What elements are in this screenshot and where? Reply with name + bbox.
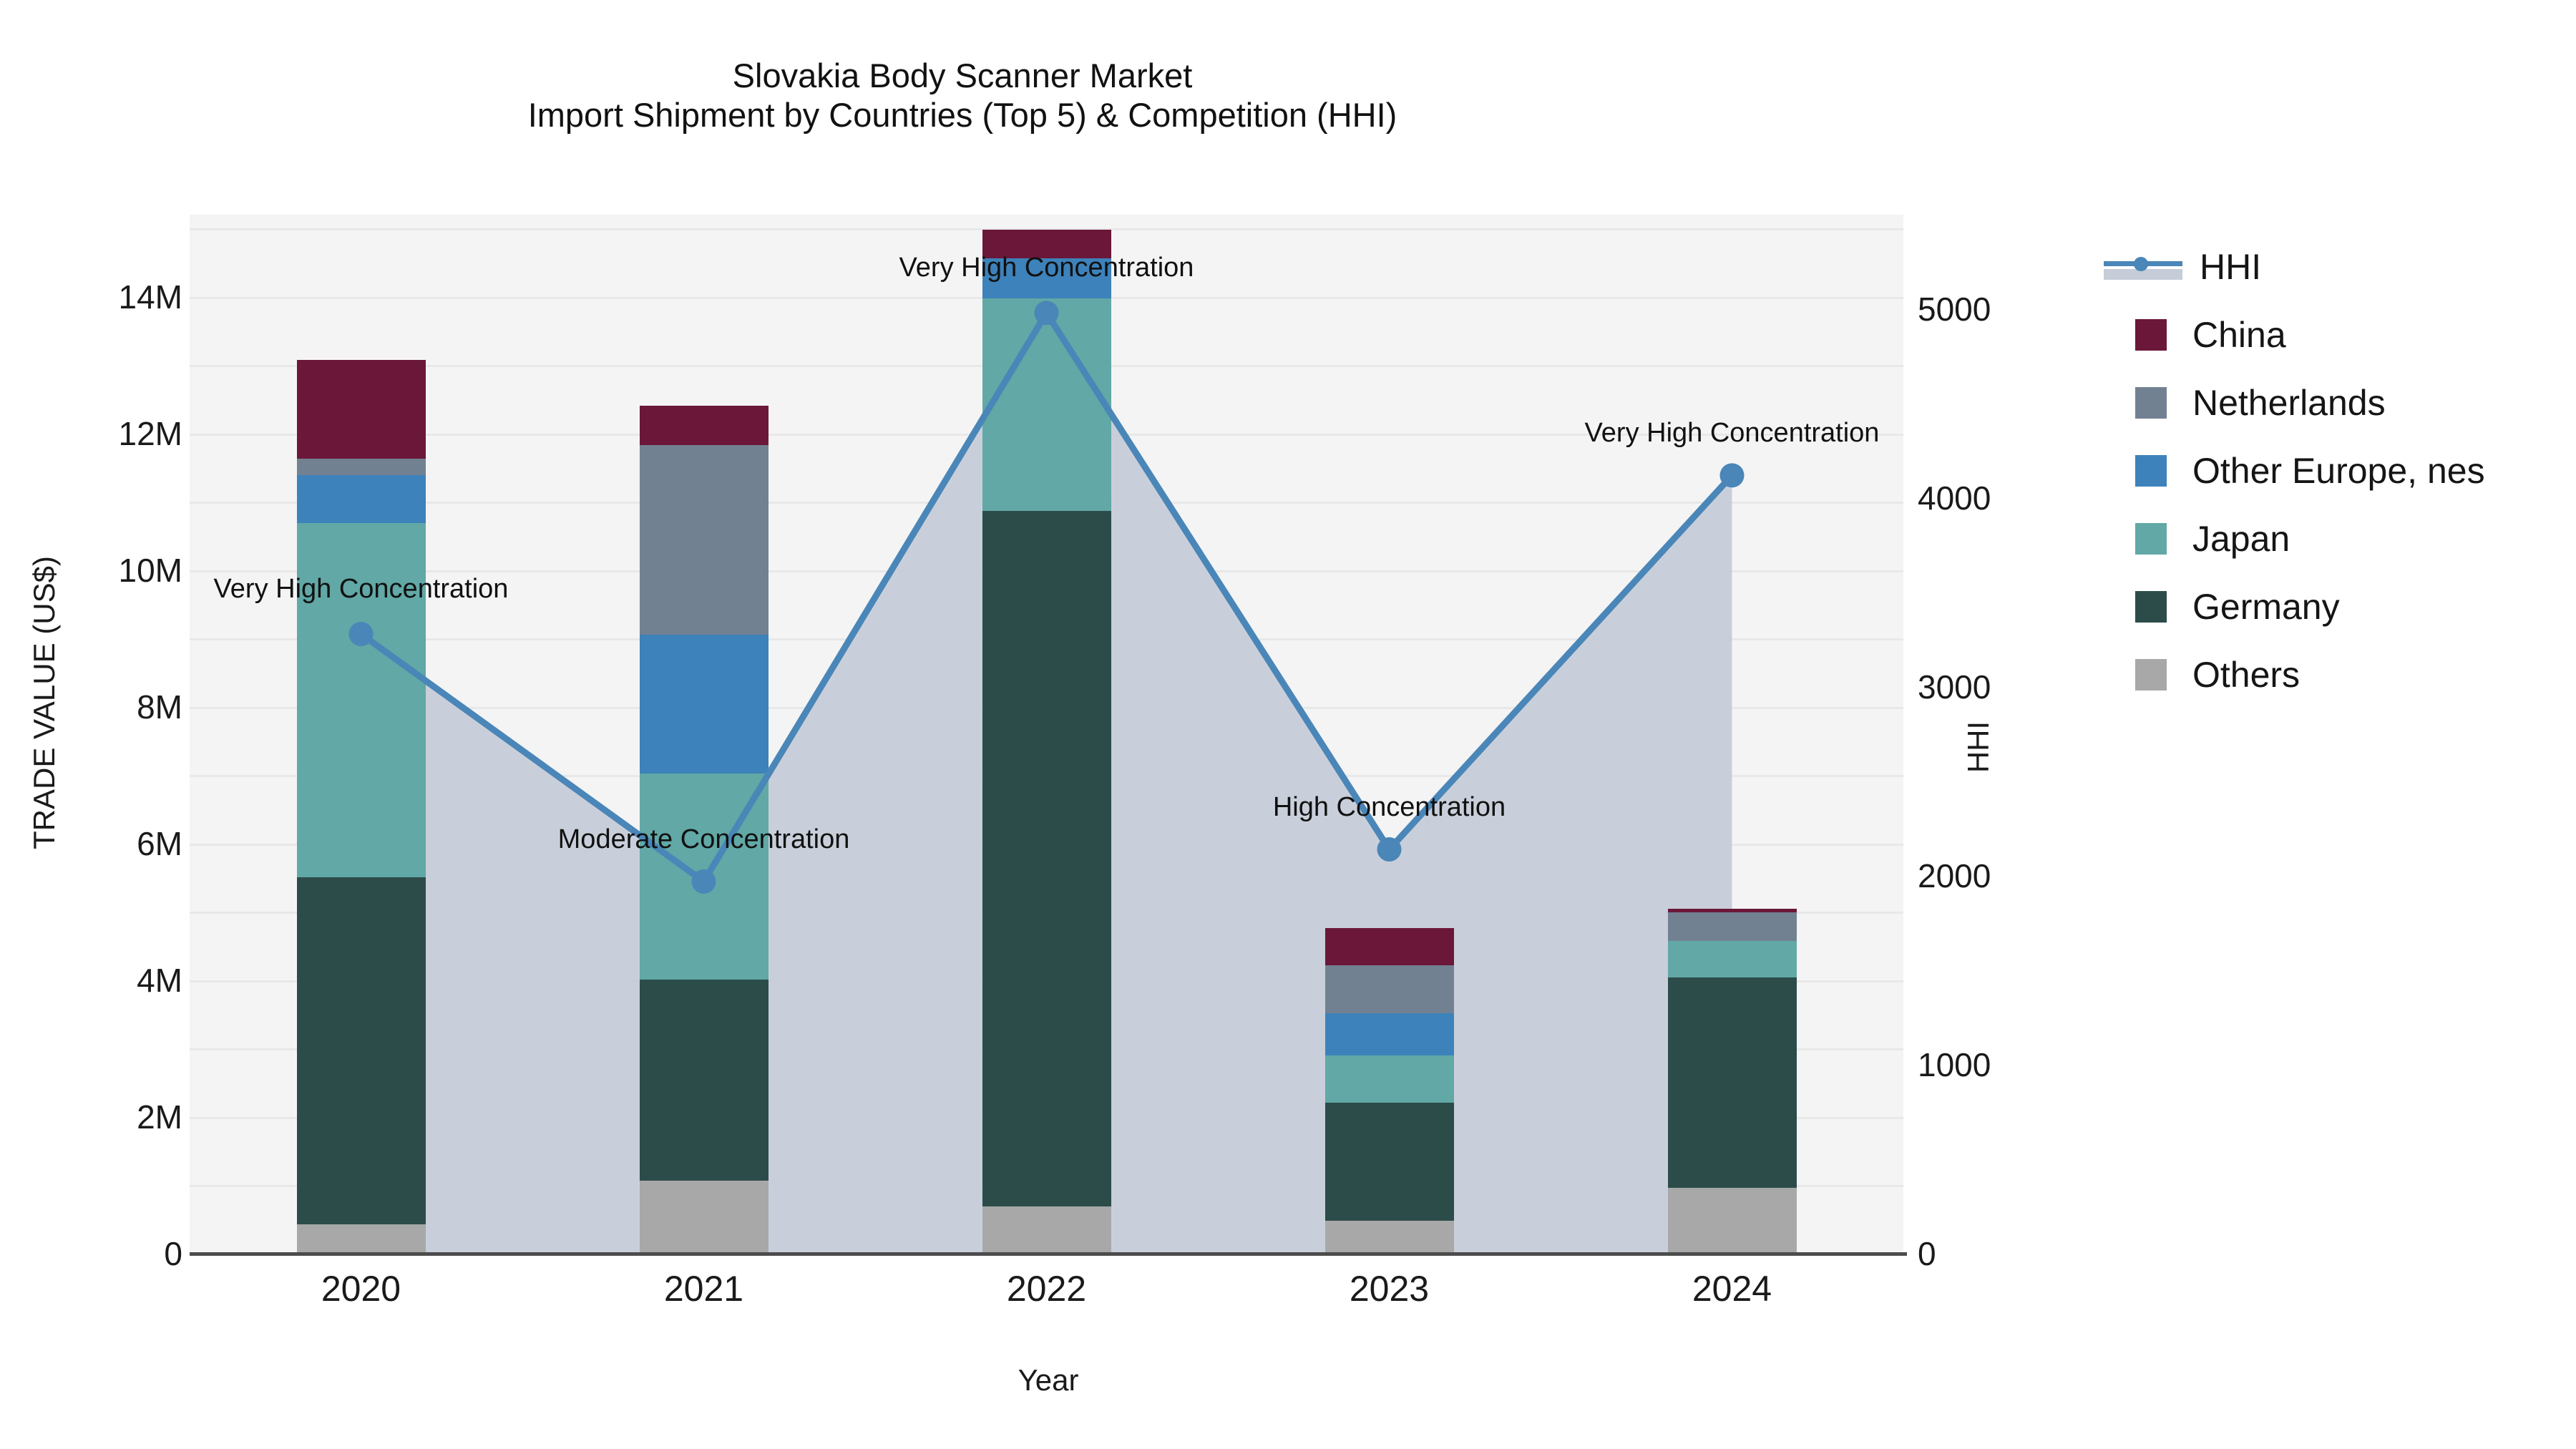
x-axis-title: Year [905, 1363, 1191, 1397]
x-axis-tick-label: 2021 [561, 1268, 847, 1309]
y-axis-right-tick-label: 5000 [1918, 290, 1991, 328]
y-axis-right-tick-label: 4000 [1918, 479, 1991, 517]
legend-color-swatch [2135, 523, 2167, 555]
hhi-line-icon [2104, 251, 2182, 283]
legend-label: Netherlands [2192, 382, 2386, 424]
y-axis-left-title: TRADE VALUE (US$) [27, 452, 62, 953]
legend-color-swatch [2135, 591, 2167, 623]
plot-area [190, 215, 1903, 1254]
hhi-marker [1035, 301, 1059, 325]
concentration-annotation: Very High Concentration [214, 574, 509, 605]
y-axis-right-tick-label: 1000 [1918, 1045, 1991, 1084]
hhi-marker [1377, 837, 1402, 862]
y-axis-left-tick-label: 12M [4, 414, 182, 453]
legend-color-swatch [2135, 387, 2167, 419]
x-axis-tick-label: 2023 [1246, 1268, 1533, 1309]
hhi-marker [692, 869, 716, 894]
legend-color-swatch [2135, 659, 2167, 691]
legend-label: Germany [2192, 586, 2340, 628]
hhi-line [361, 313, 1732, 882]
legend-item[interactable]: Germany [2104, 572, 2485, 640]
legend-item[interactable]: Netherlands [2104, 369, 2485, 436]
page-title: Slovakia Body Scanner Market Import Ship… [0, 56, 1925, 135]
concentration-annotation: Very High Concentration [899, 253, 1194, 283]
hhi-marker [349, 622, 374, 646]
legend-label: Other Europe, nes [2192, 450, 2485, 492]
legend-item[interactable]: Other Europe, nes [2104, 436, 2485, 504]
hhi-line-overlay [190, 215, 1903, 1254]
legend-label-hhi: HHI [2200, 246, 2261, 288]
hhi-marker [1720, 463, 1745, 487]
y-axis-right-title: HHI [1961, 604, 1996, 890]
concentration-annotation: High Concentration [1273, 792, 1506, 823]
legend-color-swatch [2135, 455, 2167, 487]
concentration-annotation: Moderate Concentration [558, 824, 850, 855]
legend-label: Japan [2192, 518, 2290, 560]
concentration-annotation: Very High Concentration [1585, 418, 1880, 449]
legend-item[interactable]: Japan [2104, 504, 2485, 572]
legend: HHI ChinaNetherlandsOther Europe, nesJap… [2104, 233, 2485, 708]
x-axis-tick-label: 2022 [904, 1268, 1190, 1309]
legend-item[interactable]: Others [2104, 640, 2485, 708]
legend-label: Others [2192, 654, 2300, 696]
y-axis-left-tick-label: 4M [4, 961, 182, 1000]
y-axis-right-tick-label: 0 [1918, 1234, 1936, 1273]
legend-color-swatch [2135, 319, 2167, 351]
legend-item[interactable]: China [2104, 301, 2485, 369]
x-axis-tick-label: 2024 [1589, 1268, 1875, 1309]
legend-item-hhi[interactable]: HHI [2104, 233, 2485, 301]
x-axis-tick-label: 2020 [218, 1268, 504, 1309]
legend-label: China [2192, 314, 2286, 356]
x-axis-line [190, 1252, 1907, 1256]
y-axis-left-tick-label: 14M [4, 278, 182, 316]
y-axis-left-tick-label: 2M [4, 1098, 182, 1136]
y-axis-right-ticks: 010002000300040005000 [1918, 0, 2576, 1449]
y-axis-left-tick-label: 0 [4, 1234, 182, 1273]
